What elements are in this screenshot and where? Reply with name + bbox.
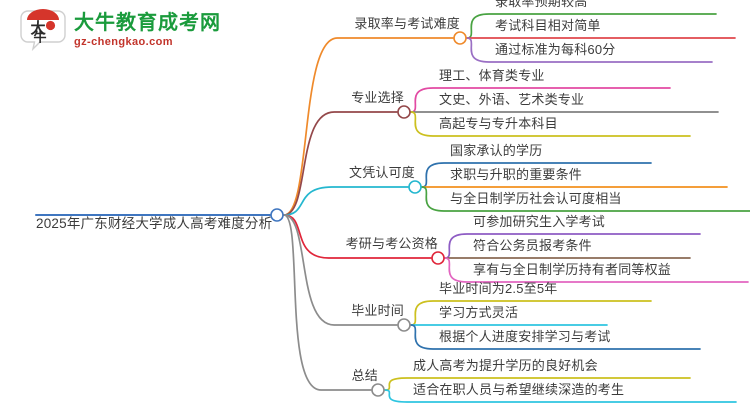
branch-node-1[interactable] [454,32,466,44]
leaf-label-6-1[interactable]: 成人高考为提升学历的良好机会 [413,355,598,374]
root-node[interactable] [271,209,283,221]
leaf-label-4-2[interactable]: 符合公务员报考条件 [473,235,592,254]
leaf-label-4-1[interactable]: 可参加研究生入学考试 [473,211,605,230]
mindmap-nodes [0,0,750,410]
leaf-label-1-1[interactable]: 录取率预期较高 [495,0,587,10]
branch-node-4[interactable] [432,252,444,264]
leaf-label-2-3[interactable]: 高起专与专升本科目 [439,113,558,132]
branch-node-6[interactable] [372,384,384,396]
leaf-label-5-1[interactable]: 毕业时间为2.5至5年 [439,278,558,297]
leaf-label-1-2[interactable]: 考试科目相对简单 [495,15,601,34]
leaf-label-3-1[interactable]: 国家承认的学历 [450,140,542,159]
branch-label-4[interactable]: 考研与考公资格 [346,233,438,252]
branch-label-2[interactable]: 专业选择 [351,87,404,106]
leaf-label-5-3[interactable]: 根据个人进度安排学习与考试 [439,326,611,345]
branch-node-2[interactable] [398,106,410,118]
mindmap-canvas: 大 牛 大牛教育成考网 gz-chengkao.com 2025年广东财经大学成… [0,0,750,410]
leaf-label-1-3[interactable]: 通过标准为每科60分 [495,39,615,58]
leaf-label-2-2[interactable]: 文史、外语、艺术类专业 [439,89,584,108]
branch-label-3[interactable]: 文凭认可度 [349,162,415,181]
root-label: 2025年广东财经大学成人高考难度分析 [36,212,272,232]
branch-label-5[interactable]: 毕业时间 [351,300,404,319]
branch-label-1[interactable]: 录取率与考试难度 [354,13,460,32]
leaf-label-6-2[interactable]: 适合在职人员与希望继续深造的考生 [413,379,624,398]
branch-node-3[interactable] [409,181,421,193]
leaf-label-5-2[interactable]: 学习方式灵活 [439,302,518,321]
branch-node-5[interactable] [398,319,410,331]
leaf-label-2-1[interactable]: 理工、体育类专业 [439,65,545,84]
leaf-label-3-2[interactable]: 求职与升职的重要条件 [450,164,582,183]
leaf-label-4-3[interactable]: 享有与全日制学历持有者同等权益 [473,259,671,278]
branch-label-6[interactable]: 总结 [338,365,378,384]
leaf-label-3-3[interactable]: 与全日制学历社会认可度相当 [450,188,622,207]
